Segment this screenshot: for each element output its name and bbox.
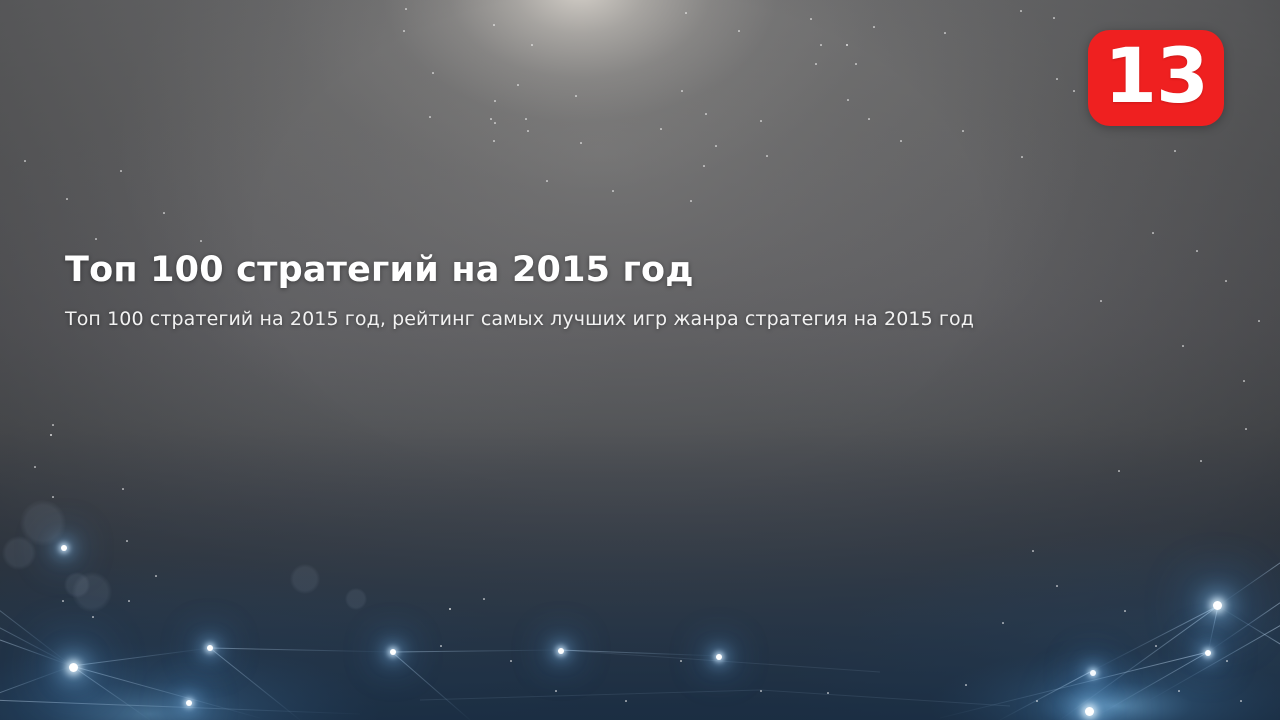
constellation-node [1205,650,1211,656]
title-block: Топ 100 стратегий на 2015 год Топ 100 ст… [65,250,1125,333]
rank-badge: 13 [1088,30,1224,126]
constellation-node [558,648,564,654]
constellation-node [186,700,192,706]
constellation-node [1085,707,1094,716]
page-subtitle: Топ 100 стратегий на 2015 год, рейтинг с… [65,307,1125,333]
constellation-node [716,654,722,660]
constellation-node [61,545,67,551]
page-title: Топ 100 стратегий на 2015 год [65,250,1125,291]
constellation-node [1213,601,1222,610]
constellation-node [69,663,78,672]
constellation-node [1090,670,1096,676]
slide-canvas: 13 Топ 100 стратегий на 2015 год Топ 100… [0,0,1280,720]
bokeh-circle [345,588,367,610]
constellation-node [390,649,396,655]
constellation-node [207,645,213,651]
bokeh-circle [72,572,112,612]
bokeh-circle [64,572,90,598]
bokeh-circle [20,500,66,546]
bokeh-circle [290,564,320,594]
rank-badge-number: 13 [1104,38,1208,114]
bokeh-circle [2,536,36,570]
